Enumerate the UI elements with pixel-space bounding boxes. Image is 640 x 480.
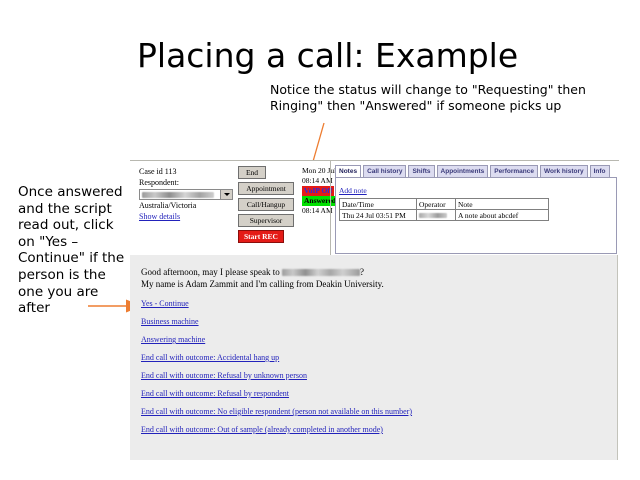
case-id-label: Case id 113 <box>139 167 239 178</box>
tab-panel: Notes Call history Shifts Appointments P… <box>335 165 617 253</box>
column-header-datetime: Date/Time <box>340 199 417 210</box>
tab-shifts[interactable]: Shifts <box>408 165 434 177</box>
tab-info[interactable]: Info <box>590 165 610 177</box>
page-title: Placing a call: Example <box>137 36 518 76</box>
script-panel: Good afternoon, may I please speak to ? … <box>130 255 618 460</box>
respondent-label: Respondent: <box>139 178 239 189</box>
cell-datetime: Thu 24 Jul 03:51 PM <box>340 210 417 221</box>
link-outcome-out-of-sample[interactable]: End call with outcome: Out of sample (al… <box>141 425 601 435</box>
panel-divider <box>330 161 331 255</box>
link-business-machine[interactable]: Business machine <box>141 317 601 327</box>
show-details-link[interactable]: Show details <box>139 212 180 223</box>
link-answering-machine[interactable]: Answering machine <box>141 335 601 345</box>
appointment-button[interactable]: Appointment <box>238 182 294 195</box>
status-badge-call-state: Answered <box>302 196 338 206</box>
callout-yes-continue-note: Once answered and the script read out, c… <box>18 184 133 317</box>
end-button[interactable]: End <box>238 166 266 179</box>
case-info-panel: Case id 113 Respondent: Australia/Victor… <box>139 167 239 222</box>
tab-body-notes: Add note Date/Time Operator Note Thu 24 … <box>335 178 617 254</box>
cell-operator <box>417 210 456 221</box>
script-text: Good afternoon, may I please speak to ? … <box>141 266 384 290</box>
respondent-redacted-value <box>142 192 214 198</box>
respondent-select[interactable] <box>139 189 233 200</box>
tab-notes[interactable]: Notes <box>335 165 361 177</box>
script-line-1: Good afternoon, may I please speak to ? <box>141 266 384 278</box>
supervisor-button[interactable]: Supervisor <box>238 214 294 227</box>
operator-redacted-value <box>419 213 447 218</box>
notes-table: Date/Time Operator Note Thu 24 Jul 03:51… <box>339 198 549 221</box>
tab-work-history[interactable]: Work history <box>540 165 588 177</box>
script-line-1-before: Good afternoon, may I please speak to <box>141 267 282 277</box>
tab-performance[interactable]: Performance <box>490 165 538 177</box>
respondent-name-redacted <box>282 269 360 276</box>
tab-appointments[interactable]: Appointments <box>437 165 489 177</box>
script-line-2: My name is Adam Zammit and I'm calling f… <box>141 278 384 290</box>
tab-call-history[interactable]: Call history <box>363 165 406 177</box>
app-header-panel: Case id 113 Respondent: Australia/Victor… <box>130 160 619 255</box>
column-header-note: Note <box>456 199 549 210</box>
call-hangup-button[interactable]: Call/Hangup <box>238 198 294 211</box>
chevron-down-icon[interactable] <box>220 190 232 199</box>
script-line-1-after: ? <box>360 267 364 277</box>
link-outcome-accidental-hangup[interactable]: End call with outcome: Accidental hang u… <box>141 353 601 363</box>
add-note-link[interactable]: Add note <box>339 186 367 195</box>
callout-status-note: Notice the status will change to "Reques… <box>270 82 600 114</box>
start-rec-button[interactable]: Start REC <box>238 230 284 243</box>
table-header-row: Date/Time Operator Note <box>340 199 549 210</box>
link-outcome-refusal-unknown[interactable]: End call with outcome: Refusal by unknow… <box>141 371 601 381</box>
call-action-buttons: End Appointment Call/Hangup Supervisor S… <box>238 166 296 246</box>
link-outcome-no-eligible[interactable]: End call with outcome: No eligible respo… <box>141 407 601 417</box>
timezone-label: Australia/Victoria <box>139 201 239 212</box>
script-outcome-links: Yes - Continue Business machine Answerin… <box>141 299 601 443</box>
link-outcome-refusal-respondent[interactable]: End call with outcome: Refusal by respon… <box>141 389 601 399</box>
table-row[interactable]: Thu 24 Jul 03:51 PM A note about abcdef <box>340 210 549 221</box>
cell-note: A note about abcdef <box>456 210 549 221</box>
column-header-operator: Operator <box>417 199 456 210</box>
application-screenshot: Case id 113 Respondent: Australia/Victor… <box>130 160 619 460</box>
link-yes-continue[interactable]: Yes - Continue <box>141 299 601 309</box>
tab-strip: Notes Call history Shifts Appointments P… <box>335 165 617 178</box>
